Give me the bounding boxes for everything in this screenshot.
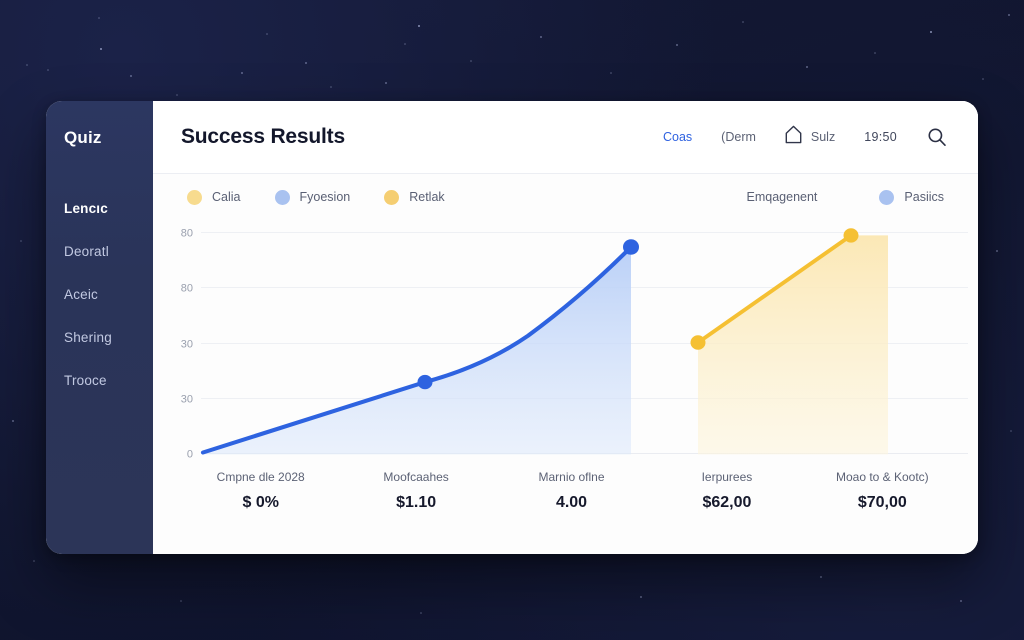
main-panel: Success Results Coas (Derm Sulz 19:50 [153, 101, 978, 554]
chart-area: 80 80 30 30 0 [153, 220, 978, 466]
x-axis-column[interactable]: Moofcaahes $1.10 [338, 470, 493, 540]
sidebar-item-label: Trooce [64, 373, 107, 388]
legend-label: Pasiics [904, 190, 944, 204]
legend-item-fyoesion[interactable]: Fyoesion [275, 190, 351, 205]
x-axis-column[interactable]: Marnio oflne 4.00 [494, 470, 649, 540]
series-pasiics [203, 239, 639, 454]
top-nav: Coas (Derm Sulz 19:50 [663, 125, 948, 149]
svg-text:30: 30 [181, 393, 193, 405]
chart-y-axis-labels: 80 80 30 30 0 [181, 228, 193, 461]
x-axis-value: $ 0% [242, 494, 278, 512]
x-axis-value: 4.00 [556, 494, 587, 512]
series-pasiics-fill [203, 247, 631, 454]
x-axis-column[interactable]: Ierpurees $62,00 [649, 470, 804, 540]
series-retlak [691, 228, 889, 454]
nav-link-coas[interactable]: Coas [663, 130, 692, 144]
legend-dot-icon [384, 190, 399, 205]
nav-link-derm[interactable]: (Derm [721, 130, 756, 144]
home-icon [785, 125, 802, 149]
legend-dot-icon [879, 190, 894, 205]
legend-label: Retlak [409, 190, 444, 204]
legend-dot-icon [187, 190, 202, 205]
x-axis-column[interactable]: Moao to & Kootc) $70,00 [805, 470, 960, 540]
series-retlak-marker[interactable] [844, 228, 859, 242]
legend-item-calia[interactable]: Calia [187, 190, 241, 205]
sidebar-item-label: Aceic [64, 287, 98, 302]
svg-text:80: 80 [181, 228, 193, 240]
legend-item-pasiics[interactable]: Pasiics [879, 190, 944, 205]
chart-svg: 80 80 30 30 0 [153, 220, 978, 466]
x-axis-value: $62,00 [702, 494, 751, 512]
sidebar-nav-list: Lencıc Deoratl Aceic Shering Trooce [46, 174, 153, 402]
svg-text:0: 0 [187, 448, 193, 460]
series-retlak-marker[interactable] [691, 335, 706, 349]
legend-label: Calia [212, 190, 241, 204]
x-axis-label: Moao to & Kootc) [836, 470, 929, 484]
chart-x-axis-footer: Cmpne dle 2028 $ 0% Moofcaahes $1.10 Mar… [153, 466, 978, 554]
sidebar: Quiz Lencıc Deoratl Aceic Shering Trooce [46, 101, 153, 554]
legend-label: Fyoesion [300, 190, 351, 204]
sidebar-item-lencic[interactable]: Lencıc [46, 187, 153, 230]
x-axis-label: Marnio oflne [538, 470, 604, 484]
legend-dot-icon [275, 190, 290, 205]
legend-item-retlak[interactable]: Retlak [384, 190, 444, 205]
sidebar-item-label: Deoratl [64, 244, 109, 259]
chart-legend: Calia Fyoesion Retlak Emqagenent Pasiics [153, 174, 978, 220]
legend-group-right: Emqagenent Pasiics [747, 190, 944, 205]
x-axis-value: $70,00 [858, 494, 907, 512]
legend-item-emqagenent[interactable]: Emqagenent [747, 190, 818, 204]
search-icon[interactable] [926, 126, 948, 148]
nav-link-sulz: Sulz [811, 130, 835, 144]
series-pasiics-marker[interactable] [418, 375, 433, 389]
x-axis-column[interactable]: Cmpne dle 2028 $ 0% [183, 470, 338, 540]
sidebar-item-trooce[interactable]: Trooce [46, 359, 153, 402]
sidebar-brand[interactable]: Quiz [46, 101, 153, 174]
clock-time: 19:50 [864, 130, 897, 144]
series-pasiics-marker[interactable] [623, 239, 639, 254]
top-bar: Success Results Coas (Derm Sulz 19:50 [153, 101, 978, 174]
svg-text:80: 80 [181, 283, 193, 295]
x-axis-label: Ierpurees [702, 470, 753, 484]
x-axis-label: Moofcaahes [383, 470, 448, 484]
sidebar-item-label: Lencıc [64, 201, 108, 216]
legend-group-left: Calia Fyoesion Retlak [187, 190, 445, 205]
sidebar-item-deoratl[interactable]: Deoratl [46, 230, 153, 273]
x-axis-value: $1.10 [396, 494, 436, 512]
x-axis-label: Cmpne dle 2028 [217, 470, 305, 484]
sidebar-item-aceic[interactable]: Aceic [46, 273, 153, 316]
legend-label: Emqagenent [747, 190, 818, 204]
svg-text:30: 30 [181, 339, 193, 351]
page-title: Success Results [181, 125, 345, 149]
app-window: Quiz Lencıc Deoratl Aceic Shering Trooce… [46, 101, 978, 554]
home-nav-group[interactable]: Sulz [785, 125, 835, 149]
sidebar-brand-label: Quiz [64, 128, 102, 148]
sidebar-item-label: Shering [64, 330, 112, 345]
series-retlak-fill [698, 235, 888, 454]
sidebar-item-shering[interactable]: Shering [46, 316, 153, 359]
